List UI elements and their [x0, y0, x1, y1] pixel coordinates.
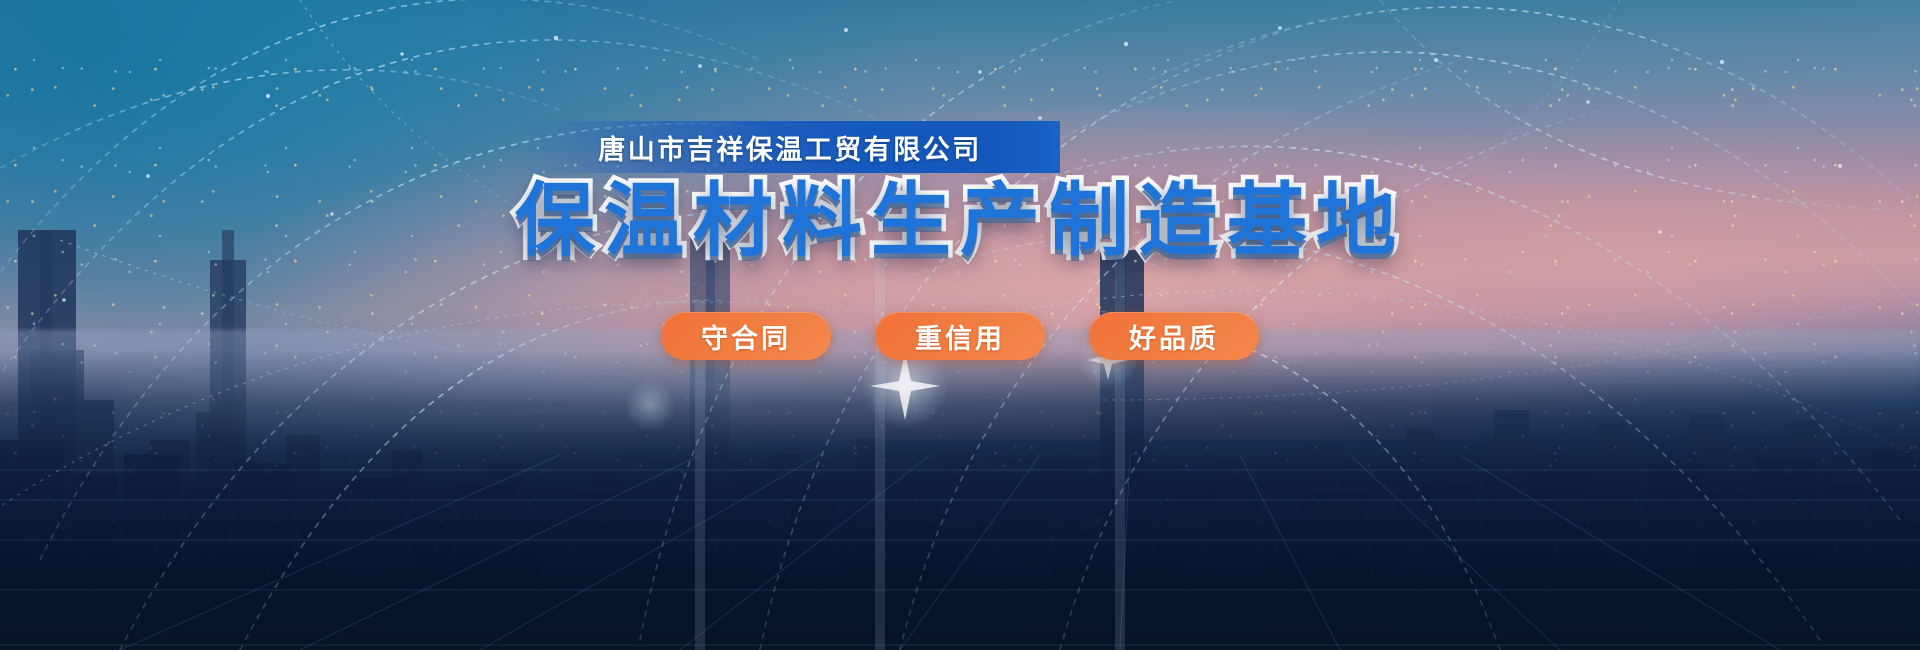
banner-content: 唐山市吉祥保温工贸有限公司 保温材料生产制造基地 守合同 重信用 好品质: [0, 0, 1920, 650]
hero-banner: 唐山市吉祥保温工贸有限公司 保温材料生产制造基地 守合同 重信用 好品质: [0, 0, 1920, 650]
company-name-band: 唐山市吉祥保温工贸有限公司: [520, 121, 1060, 173]
pill-hao-pin-zhi[interactable]: 好品质: [1089, 312, 1259, 360]
pill-shou-he-tong-label: 守合同: [701, 317, 791, 356]
pill-zhong-xin-yong[interactable]: 重信用: [875, 312, 1045, 360]
pill-shou-he-tong[interactable]: 守合同: [661, 312, 831, 360]
pill-hao-pin-zhi-label: 好品质: [1129, 317, 1219, 356]
company-name-text: 唐山市吉祥保温工贸有限公司: [598, 128, 982, 167]
feature-pill-row: 守合同 重信用 好品质: [0, 312, 1920, 360]
headline-wrapper: 保温材料生产制造基地: [0, 178, 1920, 264]
pill-zhong-xin-yong-label: 重信用: [915, 317, 1005, 356]
page-title: 保温材料生产制造基地: [515, 178, 1405, 264]
